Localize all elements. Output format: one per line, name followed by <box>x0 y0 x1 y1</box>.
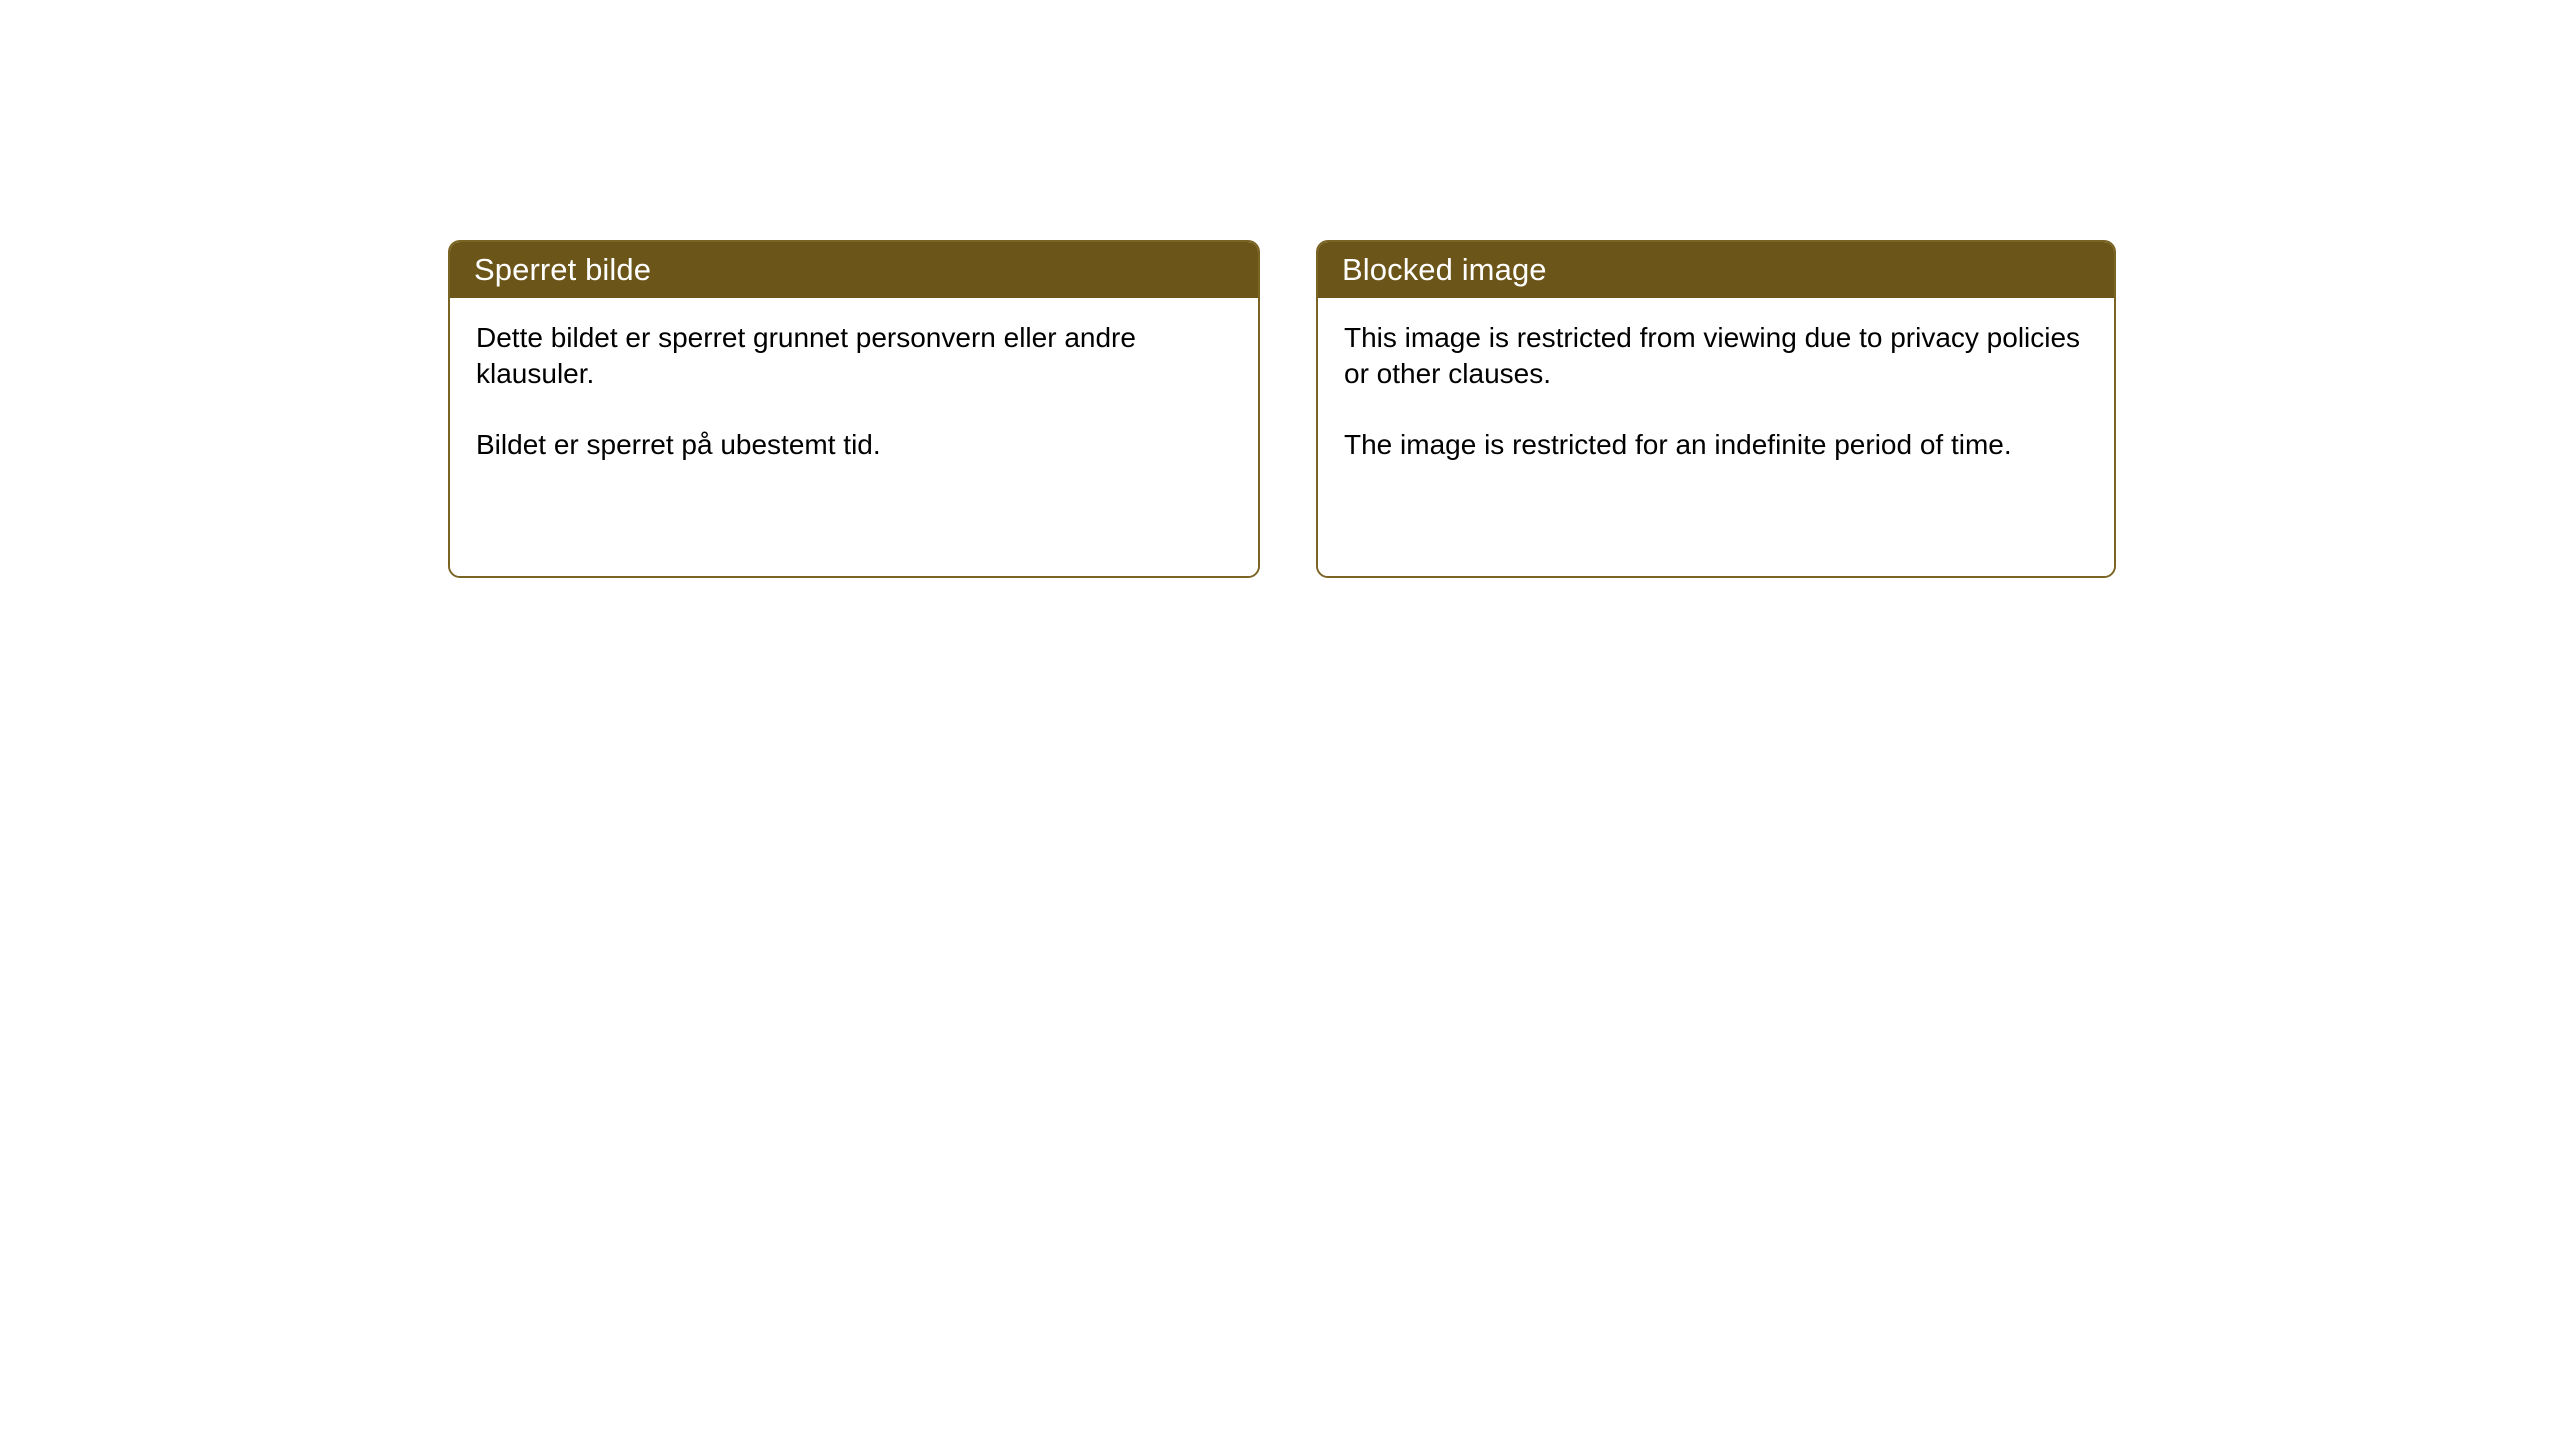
blocked-image-card-en: Blocked image This image is restricted f… <box>1316 240 2116 578</box>
card-paragraph-en-1: This image is restricted from viewing du… <box>1344 320 2088 393</box>
page-canvas: Sperret bilde Dette bildet er sperret gr… <box>0 0 2560 1440</box>
card-paragraph-no-1: Dette bildet er sperret grunnet personve… <box>476 320 1232 393</box>
blocked-image-card-no: Sperret bilde Dette bildet er sperret gr… <box>448 240 1260 578</box>
blocked-image-notice-row: Sperret bilde Dette bildet er sperret gr… <box>448 240 2116 578</box>
card-header-en: Blocked image <box>1316 240 2116 298</box>
card-paragraph-en-2: The image is restricted for an indefinit… <box>1344 427 2088 463</box>
card-title-en: Blocked image <box>1342 254 1547 285</box>
card-paragraph-no-2: Bildet er sperret på ubestemt tid. <box>476 427 1232 463</box>
card-header-no: Sperret bilde <box>448 240 1260 298</box>
card-body-no: Dette bildet er sperret grunnet personve… <box>450 298 1258 576</box>
card-title-no: Sperret bilde <box>474 254 651 285</box>
card-body-en: This image is restricted from viewing du… <box>1318 298 2114 576</box>
